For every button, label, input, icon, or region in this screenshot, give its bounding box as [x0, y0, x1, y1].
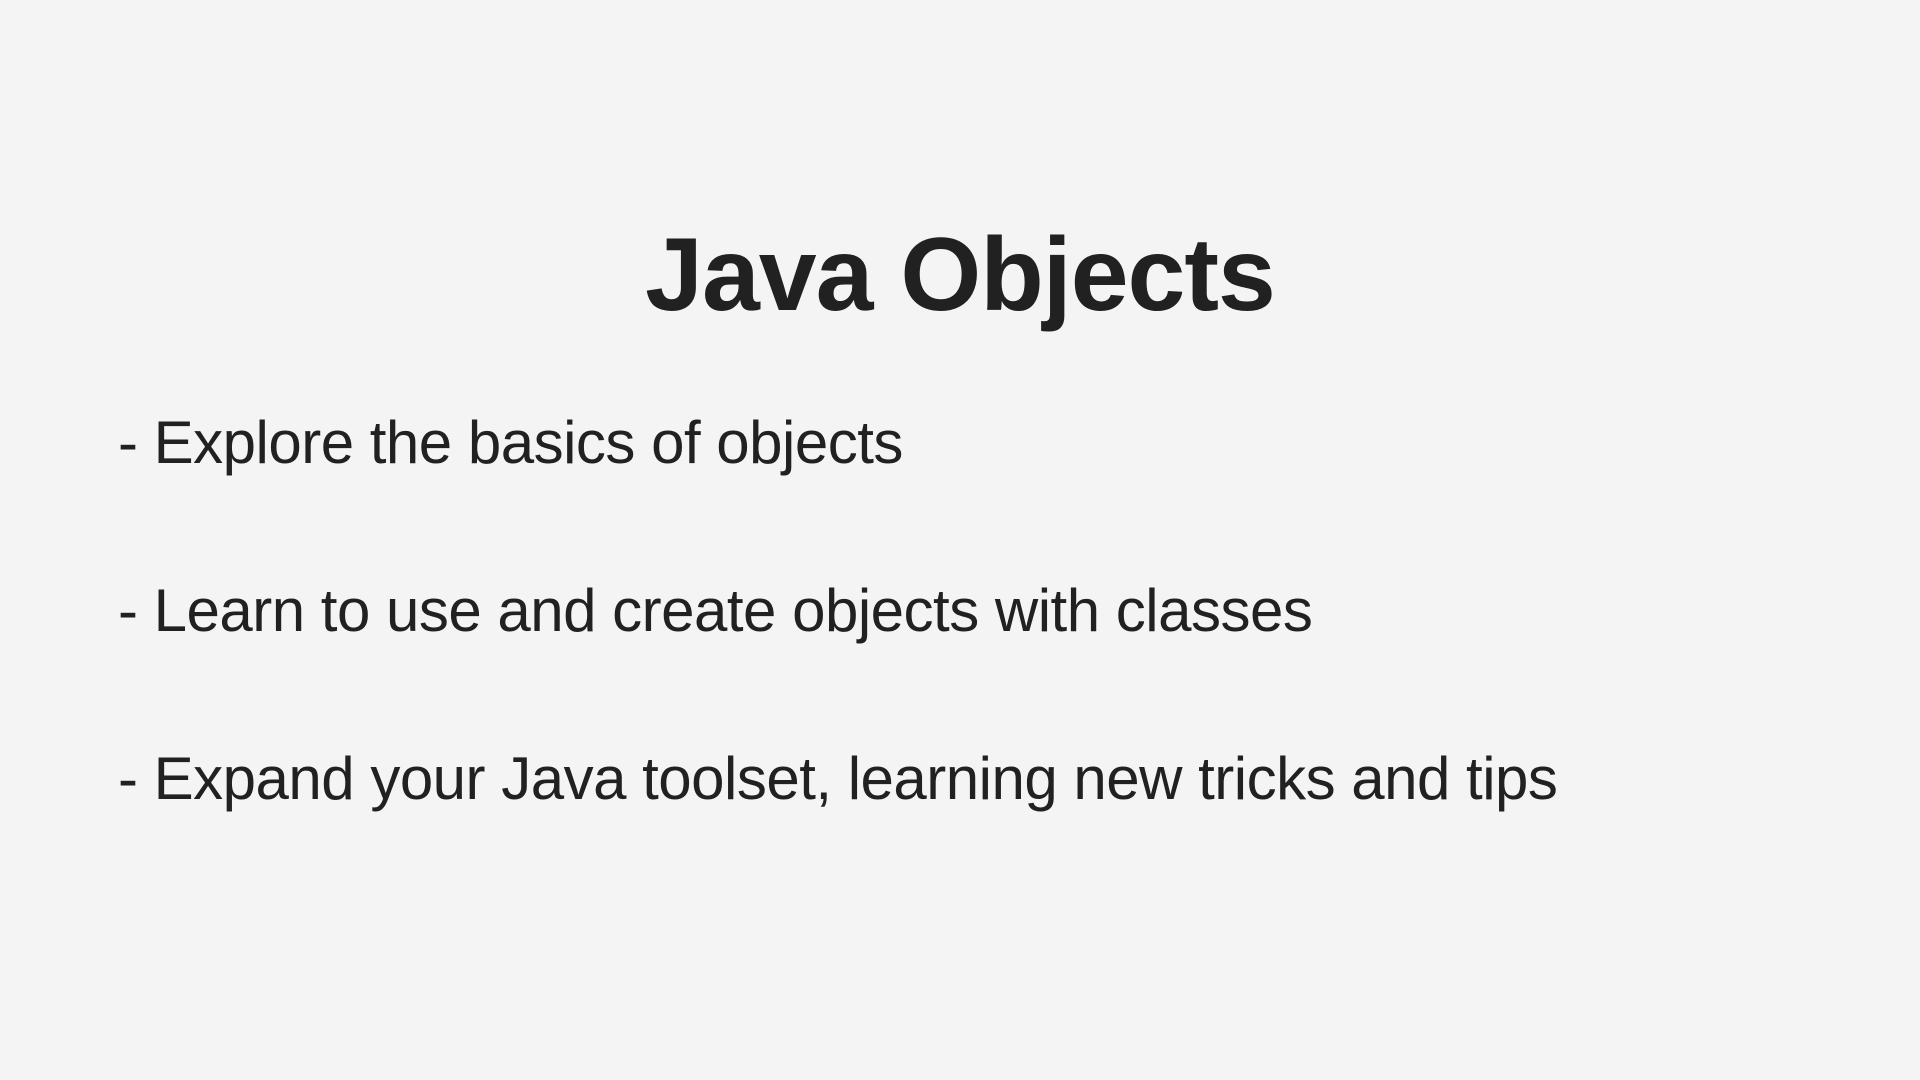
list-item: - Learn to use and create objects with c…: [118, 576, 1878, 647]
page-title: Java Objects: [0, 218, 1920, 332]
list-item: - Explore the basics of objects: [118, 408, 1878, 479]
presentation-slide: Java Objects - Explore the basics of obj…: [0, 0, 1920, 1080]
bullet-list: - Explore the basics of objects - Learn …: [118, 408, 1878, 814]
list-item: - Expand your Java toolset, learning new…: [118, 744, 1878, 815]
